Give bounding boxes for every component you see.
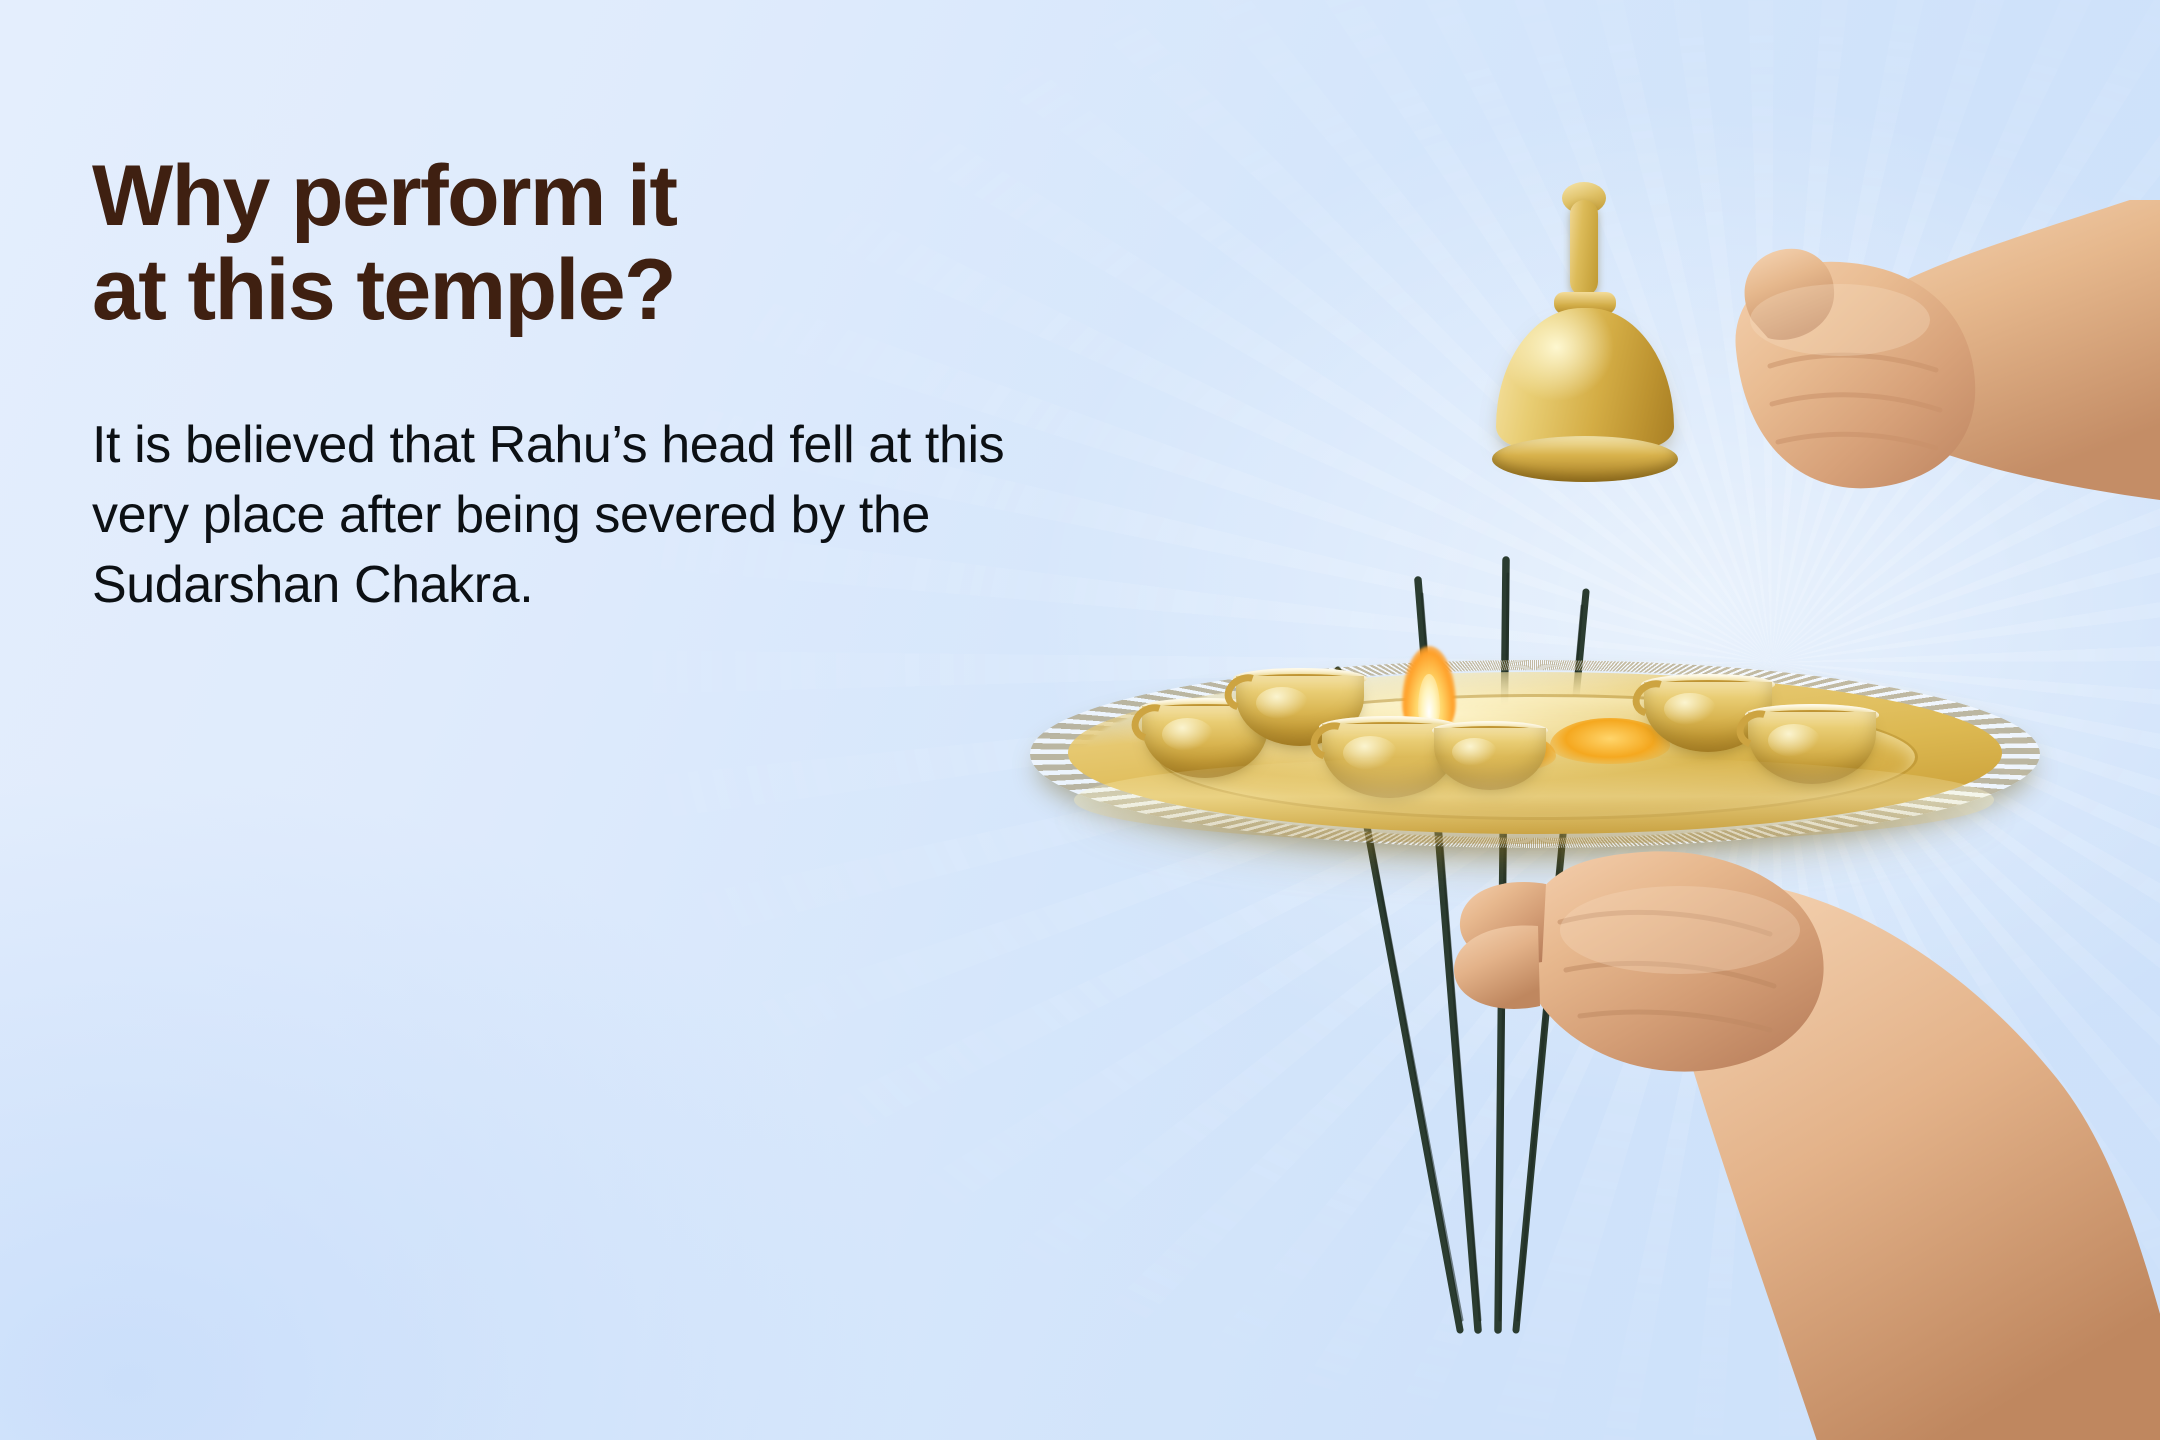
hand-holding-thali bbox=[1350, 810, 2160, 1440]
body-paragraph: It is believed that Rahu’s head fell at … bbox=[92, 337, 1052, 620]
page-title: Why perform it at this temple? bbox=[92, 150, 1092, 337]
pooja-thali-photo bbox=[1020, 330, 2160, 1440]
text-column: Why perform it at this temple? It is bel… bbox=[92, 150, 1092, 620]
slide-canvas: Why perform it at this temple? It is bel… bbox=[0, 0, 2160, 1440]
